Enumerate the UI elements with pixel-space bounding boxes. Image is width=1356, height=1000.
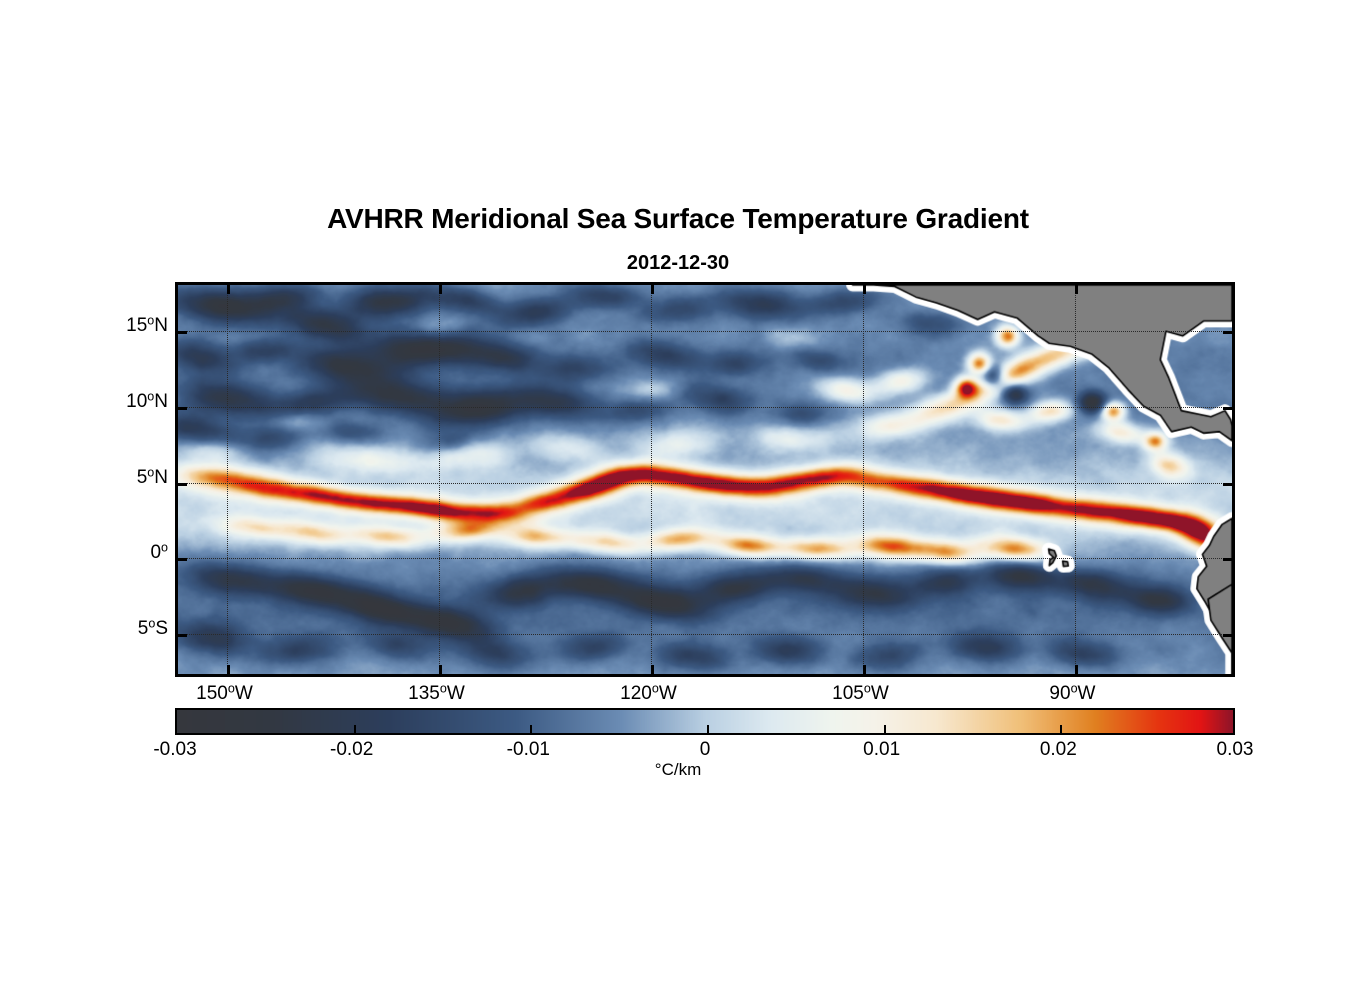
tick-mark-latitude [1223, 634, 1232, 637]
tick-mark-longitude [863, 665, 866, 674]
colorbar-tick-label: -0.01 [458, 739, 598, 761]
colorbar-tick-label: -0.03 [105, 739, 245, 761]
gridline-latitude [178, 634, 1232, 635]
map-plot-area [175, 282, 1235, 677]
gridline-latitude [178, 483, 1232, 484]
gridline-longitude [227, 285, 228, 674]
colorbar-tick-mark [1060, 725, 1062, 733]
tick-mark-latitude [1223, 483, 1232, 486]
tick-mark-latitude [178, 331, 187, 334]
tick-mark-longitude [651, 665, 654, 674]
gridline-latitude [178, 407, 1232, 408]
colorbar-tick-label: -0.02 [282, 739, 422, 761]
tick-mark-latitude [178, 558, 187, 561]
colorbar-tick-label: 0.01 [812, 739, 952, 761]
tick-mark-longitude [1075, 285, 1078, 294]
colorbar-tick-mark [354, 725, 356, 733]
gridline-latitude [178, 331, 1232, 332]
gridline-longitude [1075, 285, 1076, 674]
tick-mark-longitude [439, 665, 442, 674]
gridline-longitude [863, 285, 864, 674]
x-axis-tick-label: 90oW [1002, 683, 1142, 705]
tick-mark-longitude [1075, 665, 1078, 674]
tick-mark-longitude [651, 285, 654, 294]
x-axis-tick-label: 120oW [578, 683, 718, 705]
figure-panel: AVHRR Meridional Sea Surface Temperature… [0, 0, 1356, 1000]
tick-mark-latitude [1223, 331, 1232, 334]
y-axis-tick-label: 0o [48, 542, 168, 564]
colorbar-tick-mark [530, 725, 532, 733]
tick-mark-latitude [178, 483, 187, 486]
tick-mark-longitude [227, 285, 230, 294]
x-axis-tick-label: 150oW [154, 683, 294, 705]
page-title: AVHRR Meridional Sea Surface Temperature… [0, 203, 1356, 235]
tick-mark-longitude [227, 665, 230, 674]
y-axis-tick-label: 5oS [48, 618, 168, 640]
tick-mark-latitude [1223, 407, 1232, 410]
tick-mark-latitude [178, 407, 187, 410]
colorbar-tick-mark [707, 725, 709, 733]
y-axis-tick-label: 5oN [48, 467, 168, 489]
colorbar-tick-mark [884, 725, 886, 733]
colorbar-unit-label: °C/km [0, 760, 1356, 780]
tick-mark-latitude [1223, 558, 1232, 561]
gridline-longitude [439, 285, 440, 674]
tick-mark-longitude [439, 285, 442, 294]
gridline-longitude [651, 285, 652, 674]
tick-mark-longitude [863, 285, 866, 294]
colorbar-tick-label: 0 [635, 739, 775, 761]
colorbar-tick-label: 0.02 [988, 739, 1128, 761]
gridline-latitude [178, 558, 1232, 559]
x-axis-tick-label: 135oW [366, 683, 506, 705]
colorbar-tick-label: 0.03 [1165, 739, 1305, 761]
x-axis-tick-label: 105oW [790, 683, 930, 705]
tick-mark-latitude [178, 634, 187, 637]
y-axis-tick-label: 10oN [48, 391, 168, 413]
colorbar-gradient [177, 710, 1233, 733]
sst-gradient-heatmap [178, 285, 1232, 674]
chart-subtitle: 2012-12-30 [0, 252, 1356, 275]
colorbar [175, 708, 1235, 735]
y-axis-tick-label: 15oN [48, 315, 168, 337]
